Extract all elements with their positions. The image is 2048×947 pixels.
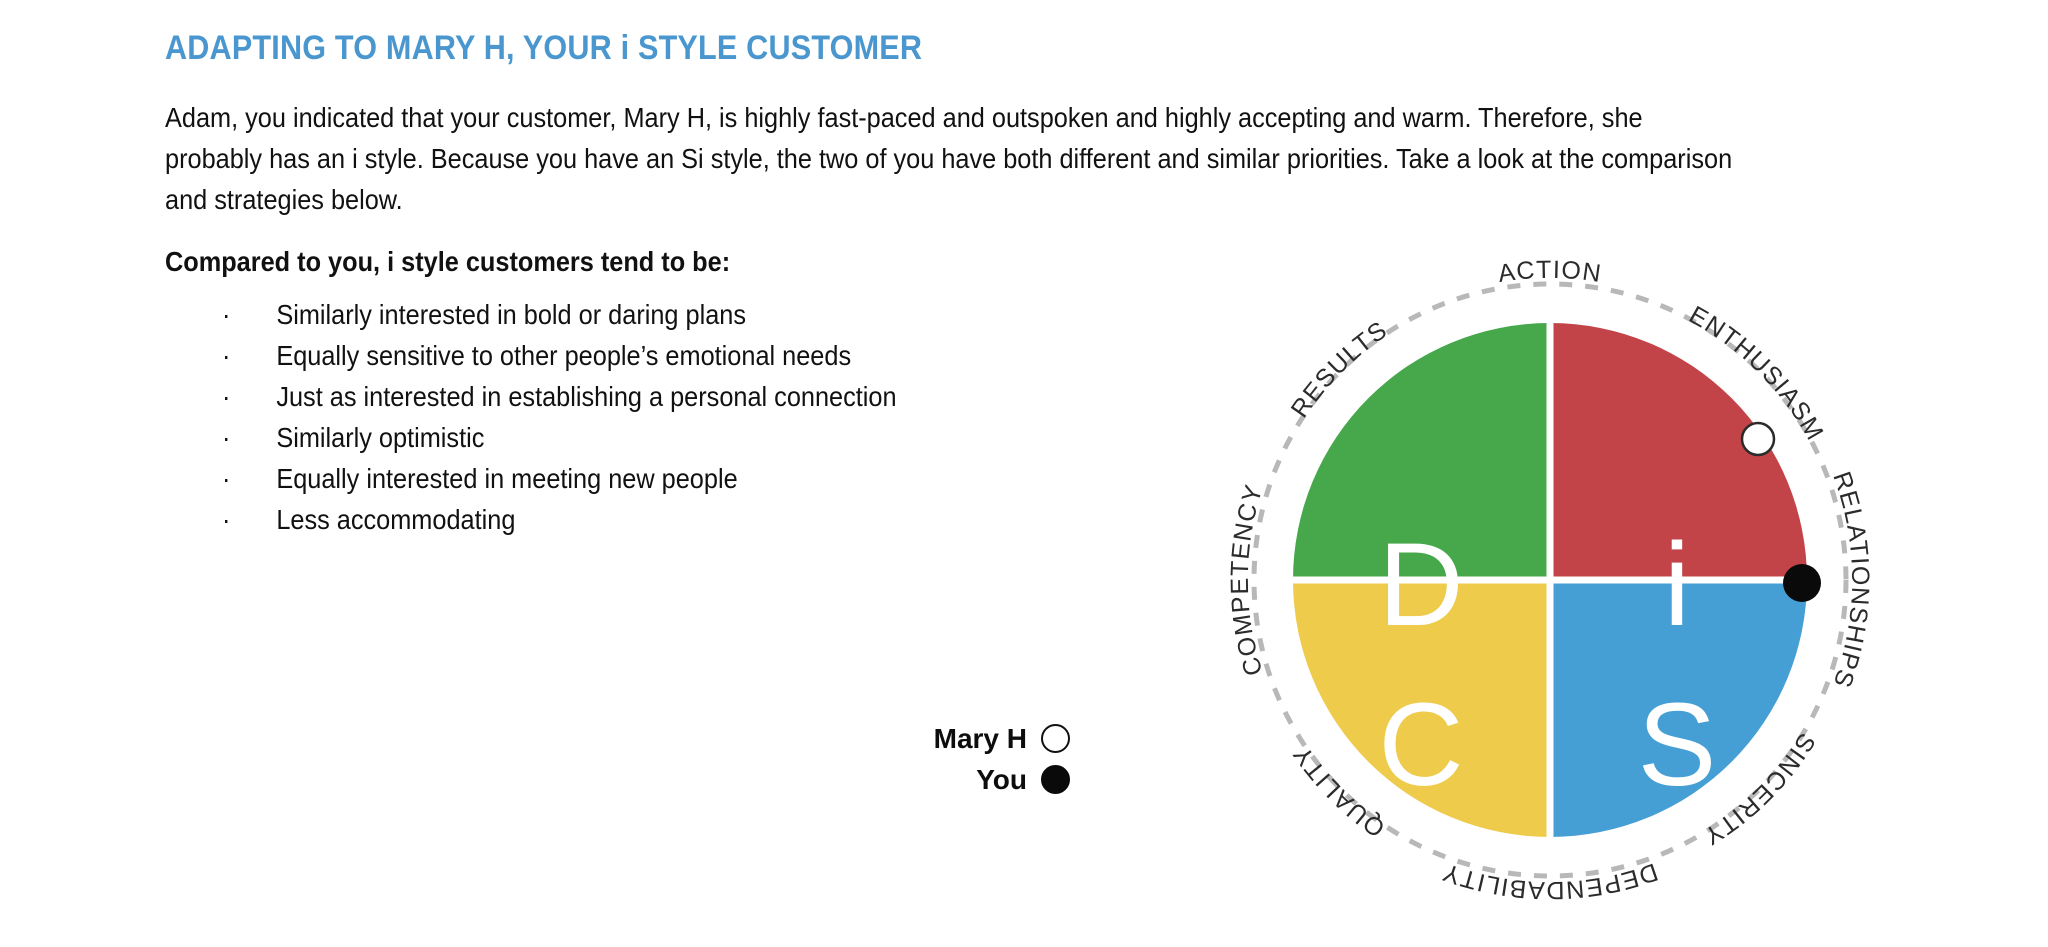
- bullet-point-icon: ·: [222, 458, 230, 499]
- marker-mary-h: [1742, 423, 1774, 455]
- intro-paragraph: Adam, you indicated that your customer, …: [165, 97, 1743, 220]
- quadrant-letter-s: S: [1638, 679, 1717, 811]
- list-item-label: Equally sensitive to other people’s emot…: [276, 340, 851, 371]
- ring-label-action: ACTION: [1496, 256, 1603, 288]
- ring-label-dependability: DEPENDABILITY: [1439, 857, 1662, 904]
- disc-wheel-svg: D i S C ACTION ENTHUSIASM RELATIONSHIPS …: [1203, 233, 1897, 927]
- list-item-label: Similarly optimistic: [276, 422, 484, 453]
- list-item: · Just as interested in establishing a p…: [165, 376, 993, 417]
- legend-item-you: You: [890, 759, 1070, 800]
- chart-legend: Mary H You: [890, 718, 1070, 800]
- comparison-bullet-list: · Similarly interested in bold or daring…: [165, 294, 993, 540]
- bullet-point-icon: ·: [222, 335, 230, 376]
- bullet-point-icon: ·: [222, 499, 230, 540]
- ring-label-competency: COMPETENCY: [1226, 481, 1269, 679]
- list-item-label: Similarly interested in bold or daring p…: [276, 299, 746, 330]
- list-item: · Equally interested in meeting new peop…: [165, 458, 993, 499]
- bullet-point-icon: ·: [222, 417, 230, 458]
- hollow-circle-marker-icon: [1041, 724, 1070, 753]
- page-title: ADAPTING TO MARY H, YOUR i STYLE CUSTOME…: [165, 30, 1713, 67]
- list-item-label: Just as interested in establishing a per…: [276, 381, 896, 412]
- bullet-point-icon: ·: [222, 376, 230, 417]
- disc-wheel-chart: D i S C ACTION ENTHUSIASM RELATIONSHIPS …: [1203, 233, 1897, 927]
- legend-item-mary-h: Mary H: [890, 718, 1070, 759]
- quadrant-letter-c: C: [1378, 679, 1463, 811]
- list-item: · Less accommodating: [165, 499, 993, 540]
- legend-item-label: Mary H: [934, 725, 1027, 753]
- list-item: · Similarly optimistic: [165, 417, 993, 458]
- list-item-label: Equally interested in meeting new people: [276, 463, 737, 494]
- quadrant-letter-d: D: [1378, 519, 1463, 651]
- list-item: · Equally sensitive to other people’s em…: [165, 335, 993, 376]
- list-item: · Similarly interested in bold or daring…: [165, 294, 993, 335]
- list-item-label: Less accommodating: [276, 504, 515, 535]
- bullet-point-icon: ·: [222, 294, 230, 335]
- marker-you: [1783, 564, 1821, 602]
- quadrant-letter-i: i: [1664, 519, 1690, 651]
- solid-circle-marker-icon: [1041, 765, 1070, 794]
- legend-item-label: You: [976, 766, 1027, 794]
